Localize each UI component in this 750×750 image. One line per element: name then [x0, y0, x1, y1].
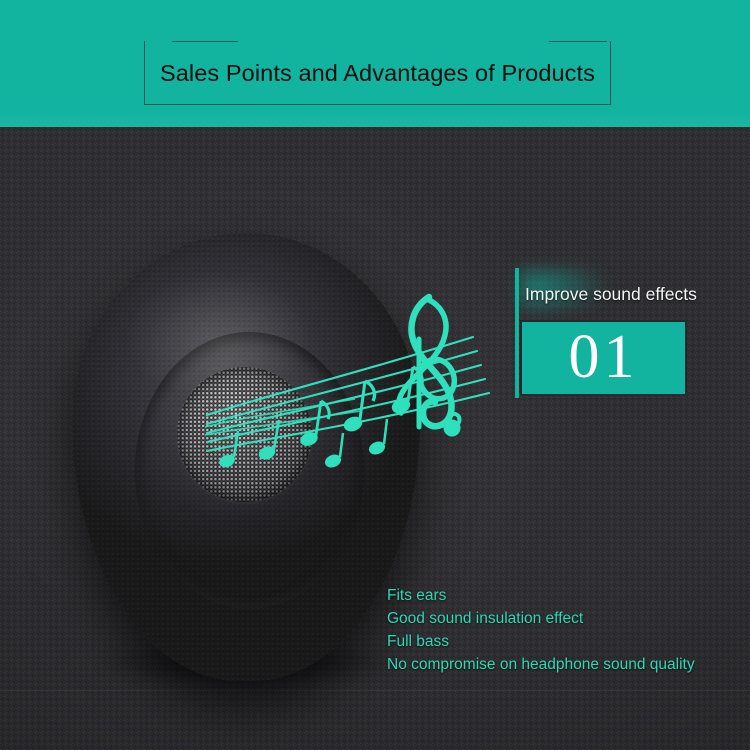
header-bar: Sales Points and Advantages of Products	[0, 0, 750, 127]
list-item: Full bass	[387, 630, 747, 653]
list-item: No compromise on headphone sound quality	[387, 653, 747, 676]
badge-number-box: 01	[522, 322, 685, 394]
badge-number: 01	[522, 322, 685, 394]
background-seam	[0, 690, 750, 691]
vertical-accent-bar-icon	[515, 268, 519, 398]
title-frame: Sales Points and Advantages of Products	[144, 41, 611, 105]
list-item: Good sound insulation effect	[387, 607, 747, 630]
page-title: Sales Points and Advantages of Products	[144, 41, 611, 105]
badge-label: Improve sound effects	[525, 284, 697, 305]
music-notes-staff	[205, 275, 525, 490]
list-item: Fits ears	[387, 584, 747, 607]
product-feature-banner: Sales Points and Advantages of Products …	[0, 0, 750, 750]
feature-badge: Improve sound effects 01	[515, 266, 695, 398]
feature-list: Fits ears Good sound insulation effect F…	[387, 584, 747, 676]
